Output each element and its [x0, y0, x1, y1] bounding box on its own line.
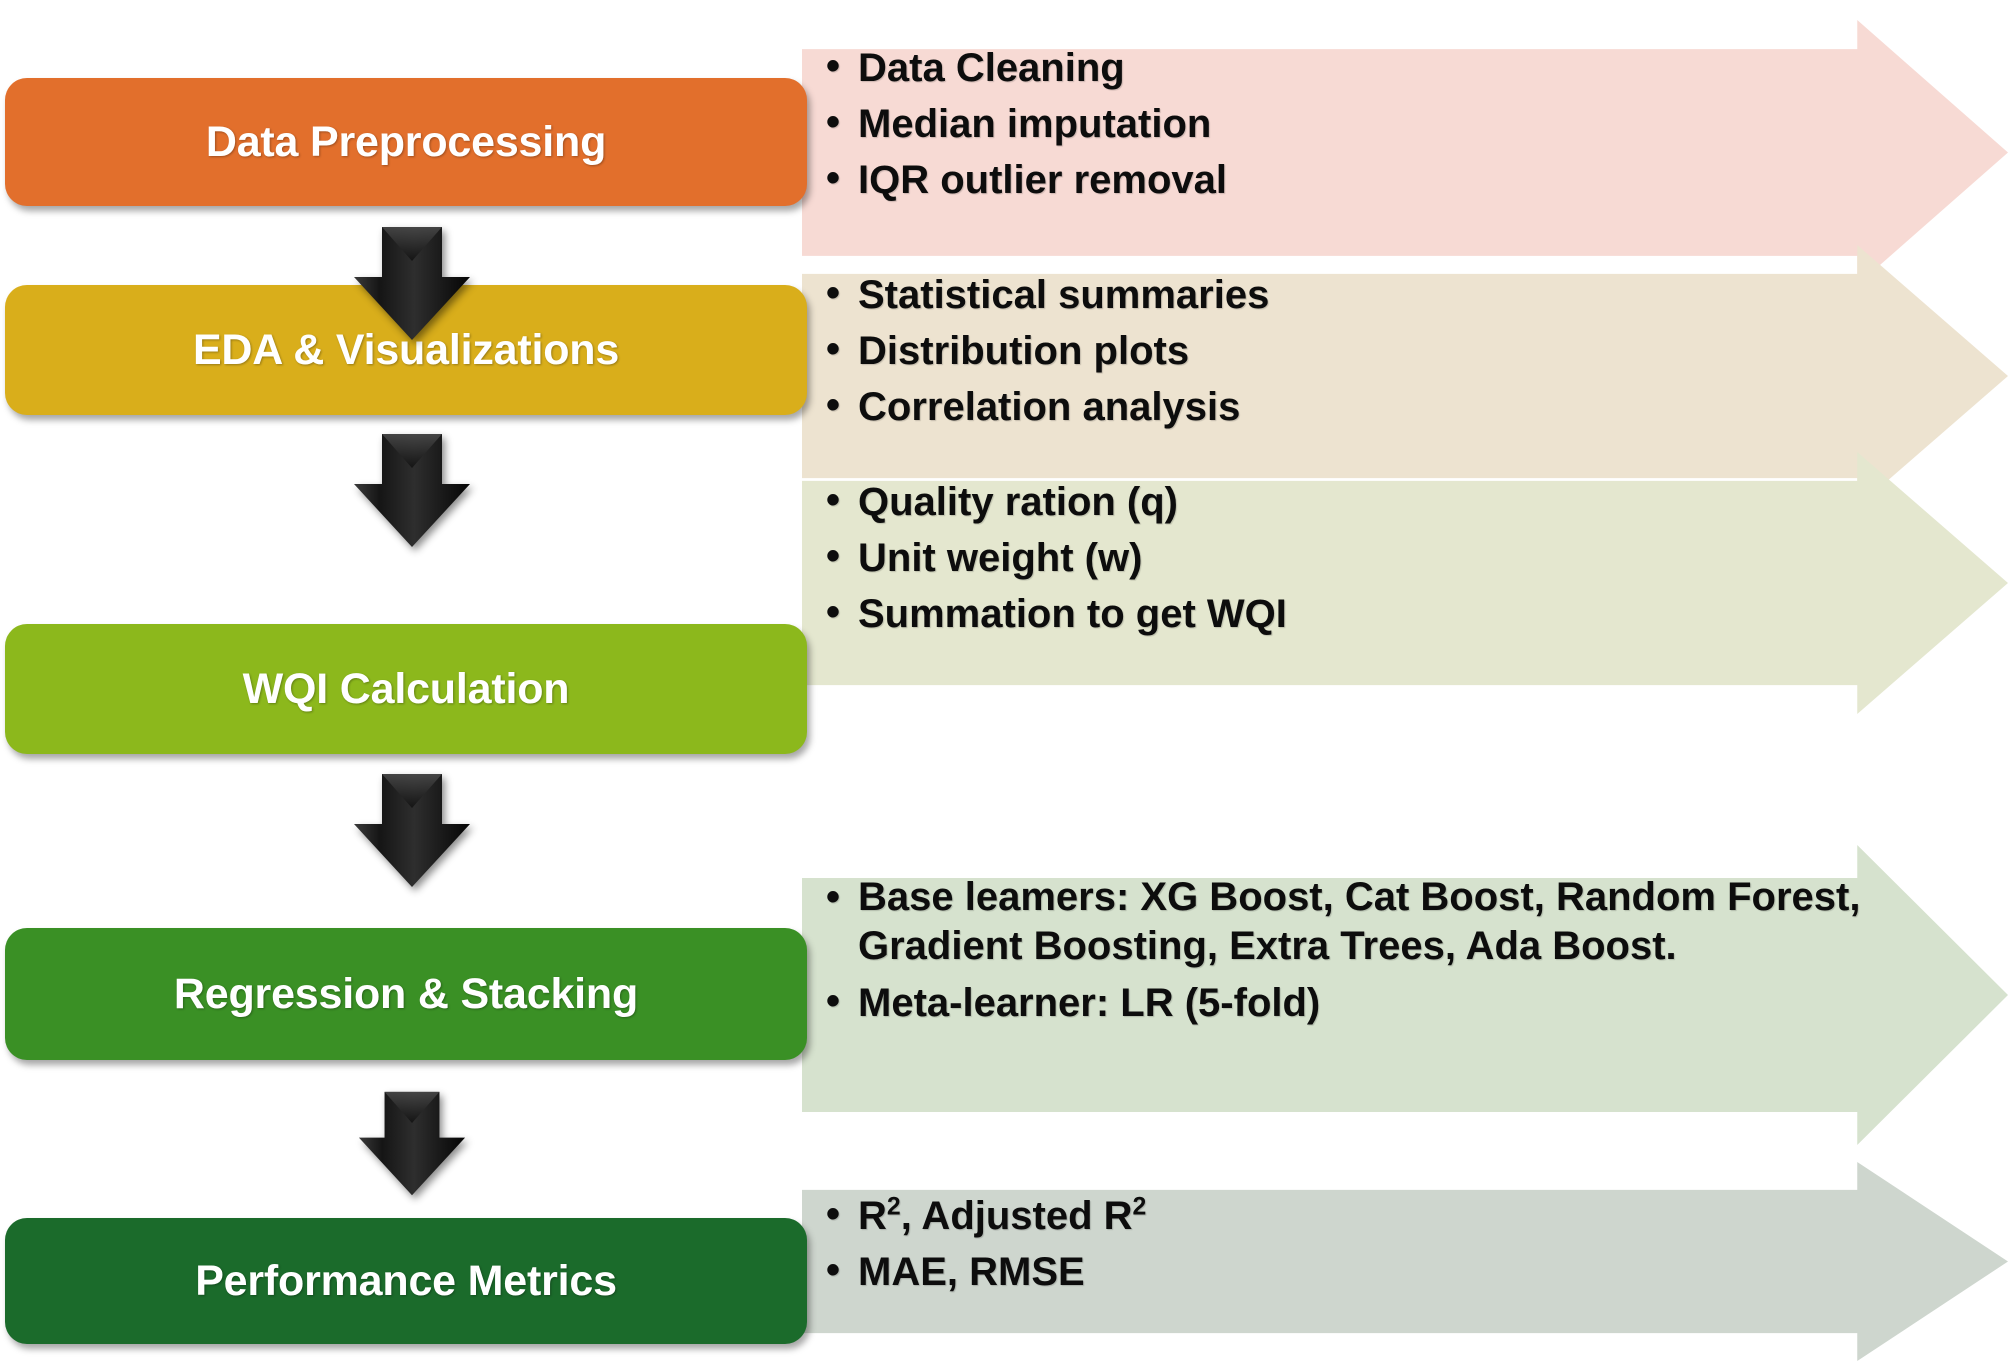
bullet-list-container: R2, Adjusted R2 MAE, RMSE [802, 1162, 1862, 1312]
list-item: Statistical summaries [824, 269, 1862, 321]
bullet-list-container: Data Cleaning Median imputation IQR outl… [802, 20, 1862, 220]
bullet-list-container: Base leamers: XG Boost, Cat Boost, Rando… [802, 845, 1872, 1043]
down-arrow-icon [352, 225, 472, 348]
content-bar-performance-metrics: R2, Adjusted R2 MAE, RMSE [802, 1162, 2008, 1361]
list-item: Data Cleaning [824, 42, 1862, 94]
down-arrow-glyph [352, 225, 472, 343]
down-arrow-glyph [352, 1090, 472, 1198]
bullet-list: Data Cleaning Median imputation IQR outl… [824, 42, 1862, 206]
stage-label: Performance Metrics [195, 1257, 617, 1306]
bullet-list: Quality ration (q) Unit weight (w) Summa… [824, 476, 1862, 640]
list-item: Base leamers: XG Boost, Cat Boost, Rando… [824, 873, 1872, 971]
stage-label: WQI Calculation [243, 665, 570, 714]
list-item: Quality ration (q) [824, 476, 1862, 528]
list-item: Summation to get WQI [824, 588, 1862, 640]
bullet-list: Statistical summaries Distribution plots… [824, 269, 1862, 433]
stage-box-regression-stacking[interactable]: Regression & Stacking [5, 928, 807, 1060]
flowchart-canvas: Data Cleaning Median imputation IQR outl… [0, 0, 2008, 1361]
list-item: Correlation analysis [824, 381, 1862, 433]
list-item: Distribution plots [824, 325, 1862, 377]
list-item: R2, Adjusted R2 [824, 1190, 1862, 1242]
down-arrow-glyph [352, 432, 472, 550]
bullet-list-container: Statistical summaries Distribution plots… [802, 245, 1862, 447]
content-bar-regression-stacking-real: Base leamers: XG Boost, Cat Boost, Rando… [802, 845, 2008, 1145]
list-item: IQR outlier removal [824, 154, 1862, 206]
stage-box-performance-metrics[interactable]: Performance Metrics [5, 1218, 807, 1344]
down-arrow-glyph [352, 772, 472, 890]
down-arrow-icon [352, 432, 472, 555]
down-arrow-icon [352, 772, 472, 895]
stage-label: Regression & Stacking [174, 970, 638, 1019]
list-item: Unit weight (w) [824, 532, 1862, 584]
stage-box-wqi-calculation[interactable]: WQI Calculation [5, 624, 807, 754]
down-arrow-icon [352, 1090, 472, 1203]
list-item: Median imputation [824, 98, 1862, 150]
stage-label: Data Preprocessing [206, 118, 606, 167]
bullet-list: Base leamers: XG Boost, Cat Boost, Rando… [824, 873, 1872, 1029]
list-item: Meta-learner: LR (5-fold) [824, 977, 1872, 1029]
bullet-list-container: Quality ration (q) Unit weight (w) Summa… [802, 452, 1862, 654]
bullet-list: R2, Adjusted R2 MAE, RMSE [824, 1190, 1862, 1298]
stage-box-data-preprocessing[interactable]: Data Preprocessing [5, 78, 807, 206]
list-item: MAE, RMSE [824, 1246, 1862, 1298]
